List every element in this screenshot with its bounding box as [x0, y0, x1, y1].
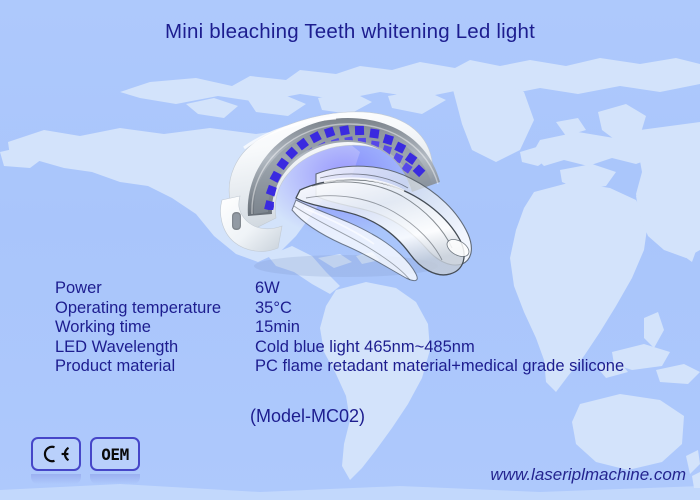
certification-badges: CE OEM [31, 437, 140, 471]
oem-badge[interactable]: OEM [90, 437, 140, 471]
spec-value: 15min [255, 318, 300, 338]
spec-label: Working time [55, 318, 255, 338]
spec-label: Product material [55, 357, 255, 377]
ce-badge[interactable]: CE [31, 437, 81, 471]
spec-row-power: Power 6W [55, 279, 624, 299]
spec-label: Operating temperature [55, 299, 255, 319]
oem-badge-reflection [90, 474, 140, 484]
product-banner: Mini bleaching Teeth whitening Led light [0, 0, 700, 500]
spec-row-operating-temperature: Operating temperature 35°C [55, 299, 624, 319]
spec-value: 35°C [255, 299, 292, 319]
product-image [196, 82, 496, 282]
spec-value: PC flame retadant material+medical grade… [255, 357, 624, 377]
spec-row-led-wavelength: LED Wavelength Cold blue light 465nm~485… [55, 338, 624, 358]
oem-badge-label: OEM [101, 445, 128, 464]
website-url[interactable]: www.laseriplmachine.com [490, 465, 686, 485]
spec-value: Cold blue light 465nm~485nm [255, 338, 475, 358]
ce-badge-reflection [31, 474, 81, 484]
model-number: (Model-MC02) [250, 406, 365, 427]
badge-reflections [31, 474, 140, 484]
spec-value: 6W [255, 279, 280, 299]
specs-table: Power 6W Operating temperature 35°C Work… [55, 279, 624, 377]
ce-mark-icon [41, 445, 71, 463]
spec-label: LED Wavelength [55, 338, 255, 358]
spec-row-working-time: Working time 15min [55, 318, 624, 338]
spec-row-product-material: Product material PC flame retadant mater… [55, 357, 624, 377]
page-title: Mini bleaching Teeth whitening Led light [0, 20, 700, 44]
spec-label: Power [55, 279, 255, 299]
